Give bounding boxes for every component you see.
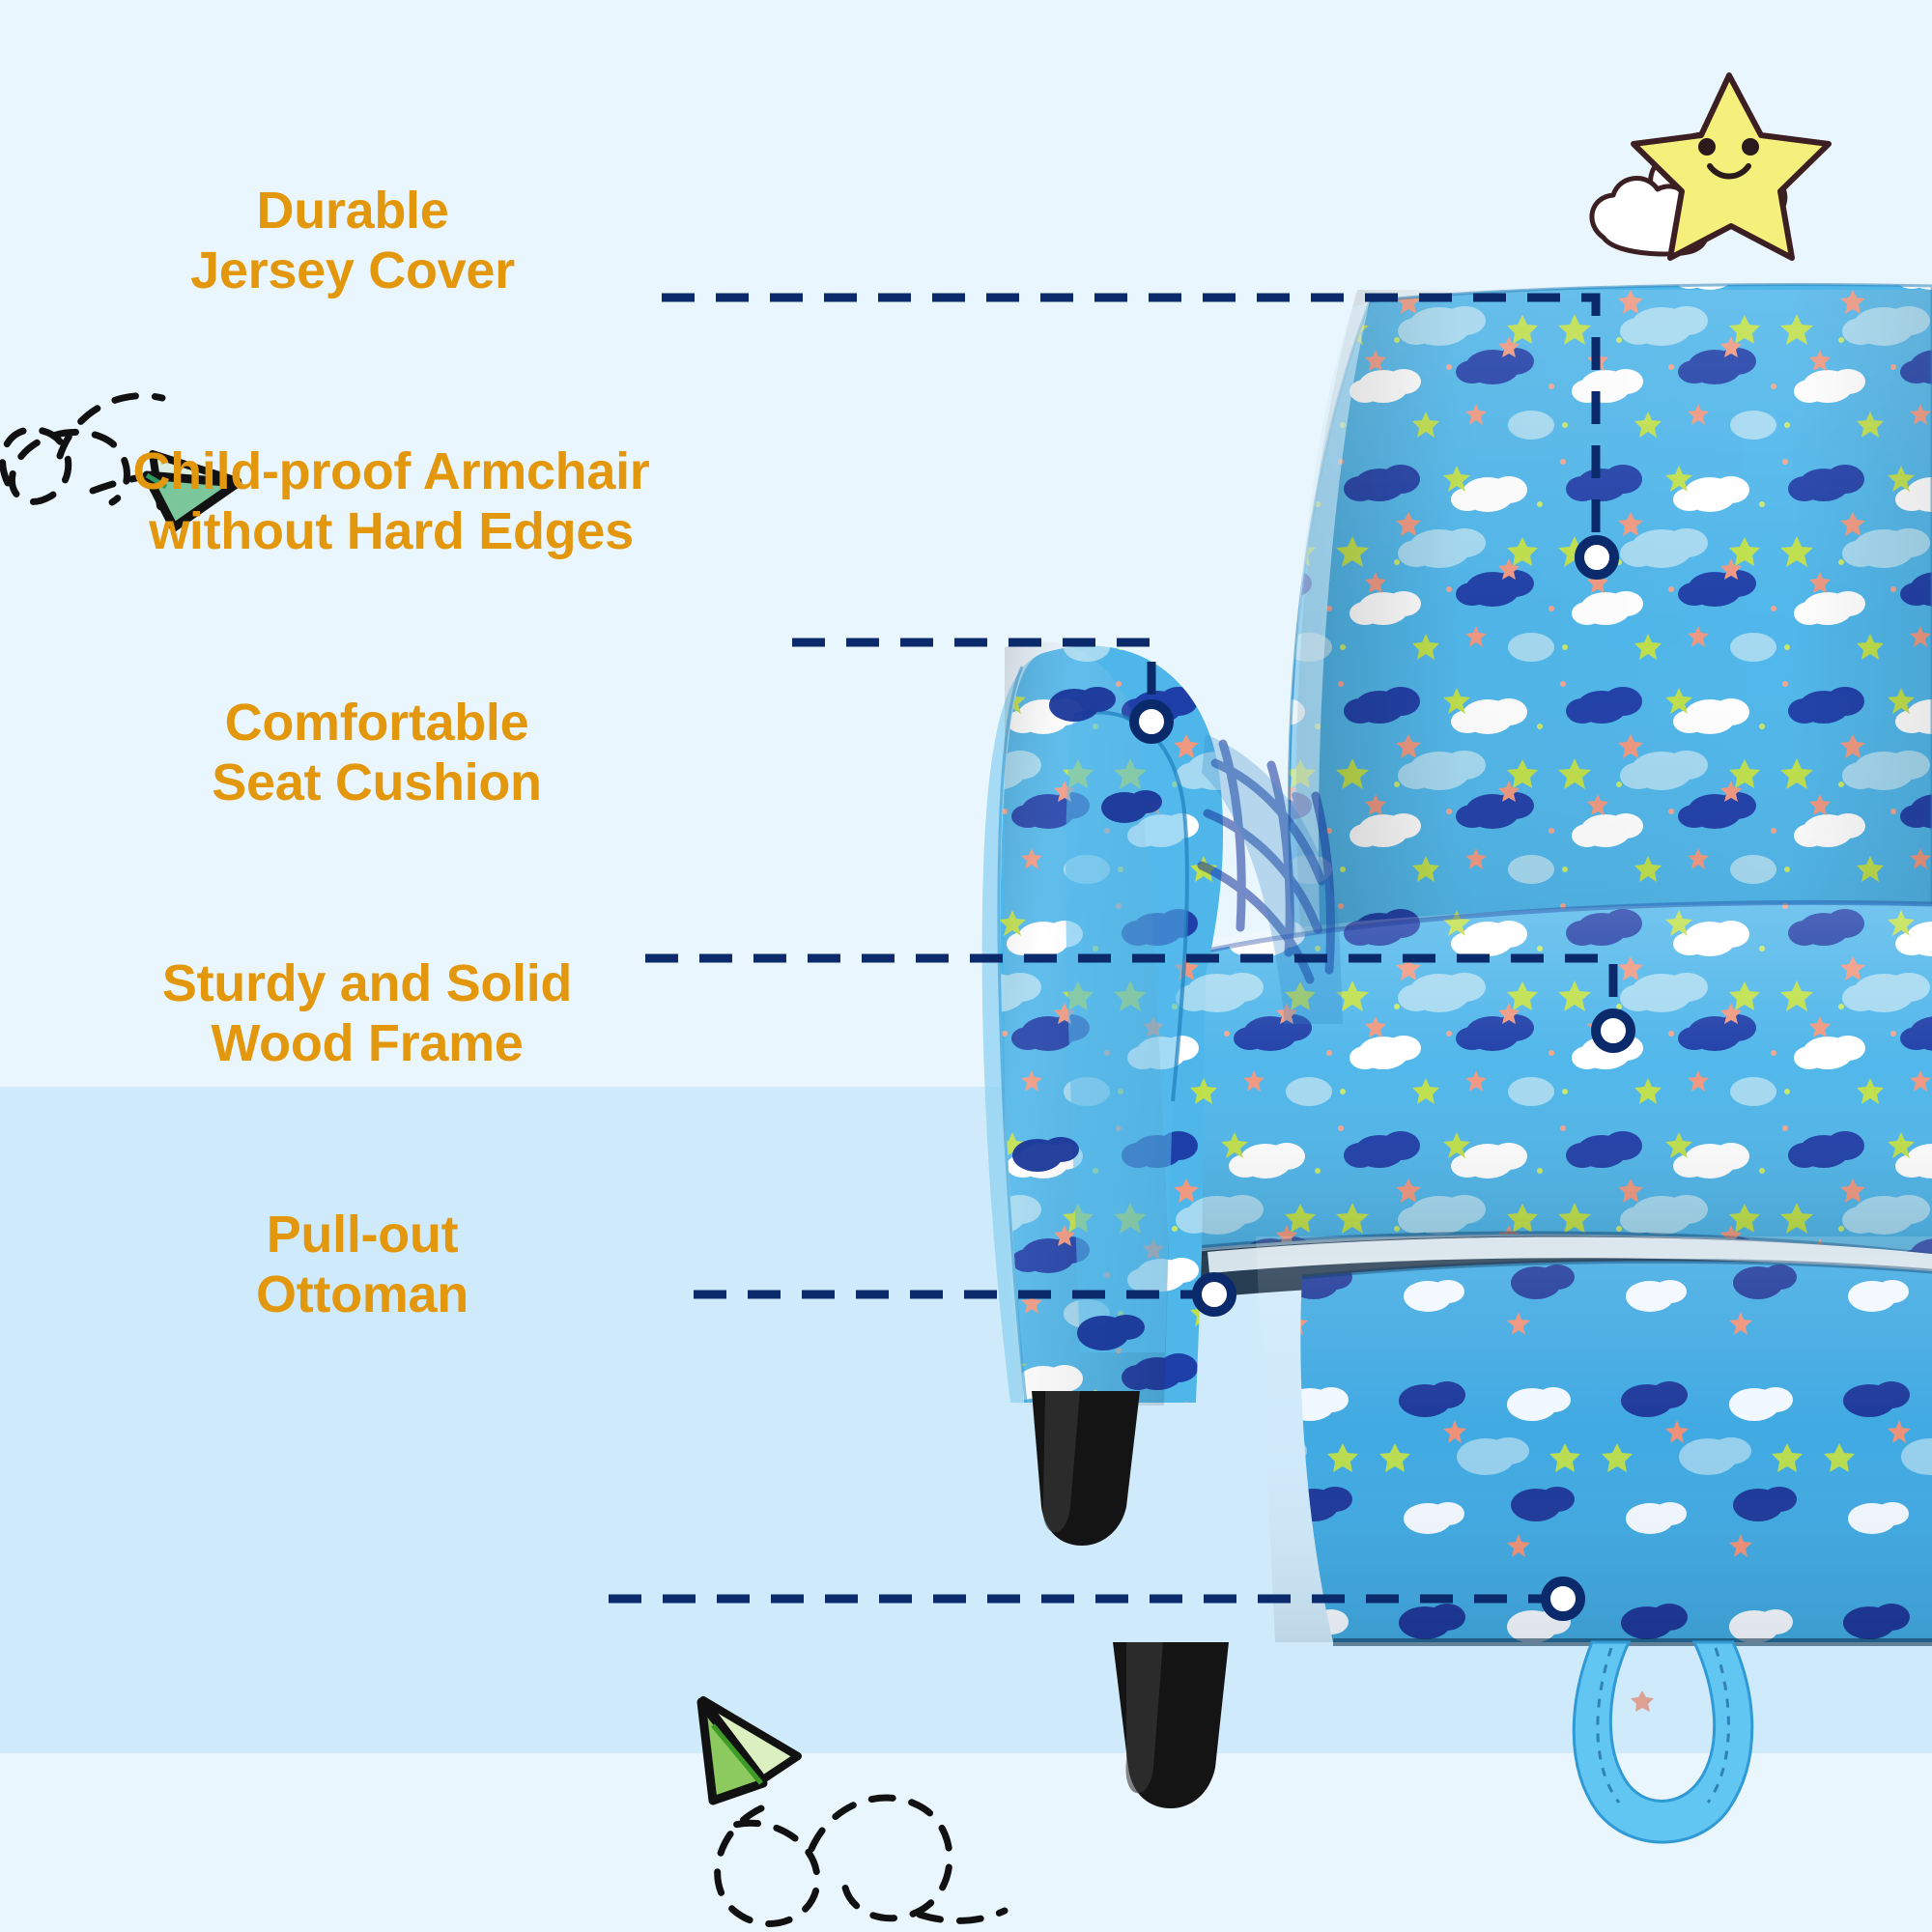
callout-comfortable-seat-cushion: Comfortable Seat Cushion	[92, 694, 662, 812]
callout-line-2: without Hard Edges	[53, 502, 729, 562]
paper-airplane-icon-bottom	[701, 1700, 798, 1801]
callout-line-1: Child-proof Armchair	[53, 442, 729, 502]
callout-durable-jersey-cover: Durable Jersey Cover	[97, 182, 609, 300]
dashed-loop-trail-bottom	[718, 1798, 1005, 1923]
callout-line-1: Durable	[97, 182, 609, 241]
callout-line-1: Sturdy and Solid	[68, 954, 667, 1014]
callout-line-1: Comfortable	[92, 694, 662, 753]
callout-sturdy-wood-frame: Sturdy and Solid Wood Frame	[68, 954, 667, 1073]
smiling-star-on-cloud-icon	[1592, 75, 1829, 258]
infographic-canvas: Durable Jersey Cover Child-proof Armchai…	[0, 0, 1932, 1932]
callout-line-2: Ottoman	[97, 1265, 628, 1325]
callout-child-proof-armchair: Child-proof Armchair without Hard Edges	[53, 442, 729, 561]
callout-pull-out-ottoman: Pull-out Ottoman	[97, 1206, 628, 1324]
callout-line-2: Wood Frame	[68, 1014, 667, 1074]
callout-line-1: Pull-out	[97, 1206, 628, 1265]
callout-line-2: Seat Cushion	[92, 753, 662, 813]
callout-line-2: Jersey Cover	[97, 241, 609, 301]
